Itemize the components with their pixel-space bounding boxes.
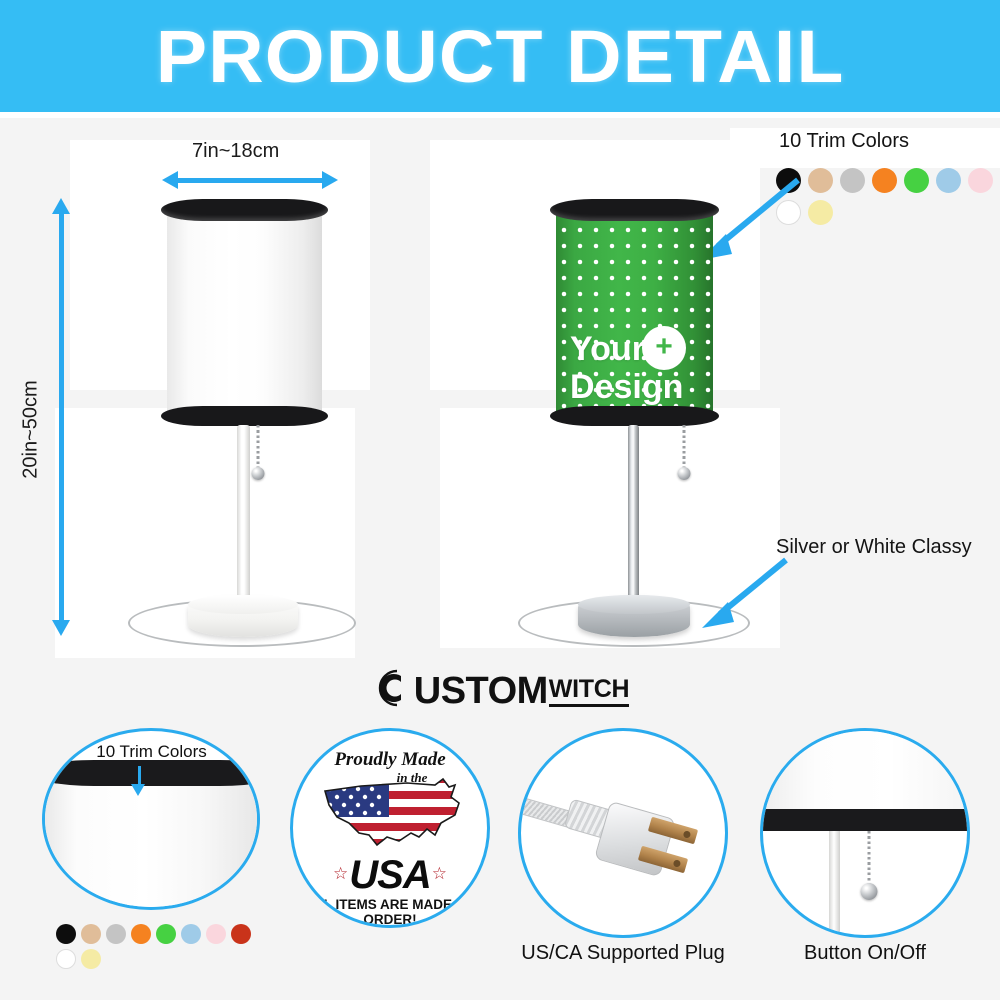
shade-trim-bottom-closeup	[760, 809, 970, 831]
logo-underline	[549, 704, 629, 707]
switch-circle	[760, 728, 970, 938]
chain-beads	[683, 425, 686, 469]
page-title: PRODUCT DETAIL	[156, 14, 845, 99]
page-header: PRODUCT DETAIL	[0, 0, 1000, 112]
main-stage: 10 Trim Colors 7in~18cm 20in~50cm	[0, 118, 1000, 658]
usa-line1: Proudly Made	[334, 749, 445, 770]
swatch-gray[interactable]	[106, 924, 126, 944]
swatch-tan[interactable]	[808, 168, 833, 193]
width-dimension-label: 7in~18cm	[192, 140, 279, 163]
width-arrow-head-right	[322, 171, 338, 189]
brand-logo: USTOM WITCH	[0, 662, 1000, 714]
swatch-light-blue[interactable]	[936, 168, 961, 193]
width-arrow-line	[178, 178, 322, 183]
shade-trim-top	[161, 199, 328, 221]
height-arrow-head-top	[52, 198, 70, 214]
lamp-base-white	[188, 595, 298, 637]
shade-trim-bottom	[161, 406, 328, 426]
lamp-stem-silver	[628, 425, 639, 611]
base-finish-arrow	[690, 548, 800, 638]
feature-switch: Button On/Off	[760, 728, 1000, 988]
usa-star-right: ☆	[432, 864, 447, 884]
swatch-black[interactable]	[56, 924, 76, 944]
pull-chain-white[interactable]	[248, 425, 268, 483]
plug-circle	[518, 728, 728, 938]
width-arrow-head-left	[162, 171, 178, 189]
usa-map-icon	[315, 775, 471, 853]
feature-caption-plug: US/CA Supported Plug	[496, 942, 750, 965]
design-text-line1: Your	[570, 332, 645, 366]
height-arrow-line	[59, 214, 64, 620]
plug-blade-hole	[683, 830, 692, 839]
lamp-stem-white	[237, 425, 250, 611]
lamp-stem-closeup	[829, 831, 840, 938]
chain-beads	[257, 425, 260, 469]
plug-blade-hole	[673, 859, 682, 868]
shade-trim-bottom	[550, 406, 719, 426]
base-finish-label: Silver or White Classy	[776, 536, 972, 559]
trim-color-swatches-bottom[interactable]	[56, 924, 256, 969]
usa-word: USA	[293, 853, 487, 898]
swatch-gray[interactable]	[840, 168, 865, 193]
logo-custom-text: USTOM	[414, 673, 548, 709]
trim-mini-arrow-head	[131, 784, 145, 796]
lampshade-white	[167, 206, 322, 418]
usa-subtitle: ALL ITEMS ARE MADE TO ORDER!	[293, 897, 487, 927]
feature-plug: US/CA Supported Plug	[518, 728, 768, 988]
swatch-yellow[interactable]	[81, 949, 101, 969]
chain-ball	[861, 883, 878, 900]
logo-c-icon	[371, 667, 413, 709]
add-design-icon[interactable]: +	[642, 326, 686, 370]
swatch-green[interactable]	[904, 168, 929, 193]
lampshade-green: Your + Design	[556, 206, 713, 418]
swatch-pink[interactable]	[206, 924, 226, 944]
shade-trim-top	[550, 199, 719, 221]
feature-caption-trim: 10 Trim Colors	[64, 742, 239, 762]
swatch-pink[interactable]	[968, 168, 993, 193]
swatch-orange[interactable]	[872, 168, 897, 193]
product-detail-page: PRODUCT DETAIL 10 Trim Colors 7in~18cm 2…	[0, 0, 1000, 1000]
shade-closeup	[42, 773, 260, 910]
design-text-line2: Design	[570, 370, 683, 404]
feature-made-in-usa: Proudly Made in the	[290, 728, 510, 928]
lampshade-surface	[167, 206, 322, 418]
height-dimension-label: 20in~50cm	[20, 380, 43, 478]
usa-star-left: ☆	[333, 864, 348, 884]
swatch-red[interactable]	[231, 924, 251, 944]
swatch-tan[interactable]	[81, 924, 101, 944]
plus-glyph: +	[655, 332, 673, 362]
trim-mini-arrow-line	[138, 766, 141, 786]
lamp-base-top	[578, 595, 690, 614]
usa-badge-circle: Proudly Made in the	[290, 728, 490, 928]
chain-ball	[678, 467, 691, 480]
shade-trim-closeup	[42, 760, 260, 786]
feature-caption-switch: Button On/Off	[750, 942, 980, 965]
lamp-base-silver	[578, 595, 690, 637]
feature-trim-colors: 10 Trim Colors	[42, 728, 262, 988]
chain-beads	[868, 831, 871, 885]
swatch-orange[interactable]	[131, 924, 151, 944]
pull-chain-silver[interactable]	[674, 425, 694, 483]
trim-colors-label: 10 Trim Colors	[779, 130, 909, 153]
logo-witch-text: WITCH	[549, 678, 629, 702]
pull-chain-closeup[interactable]	[859, 831, 879, 901]
swatch-white[interactable]	[56, 949, 76, 969]
swatch-light-blue[interactable]	[181, 924, 201, 944]
lamp-base-top	[188, 595, 298, 614]
chain-ball	[252, 467, 265, 480]
swatch-yellow[interactable]	[808, 200, 833, 225]
height-arrow-head-bottom	[52, 620, 70, 636]
swatch-green[interactable]	[156, 924, 176, 944]
